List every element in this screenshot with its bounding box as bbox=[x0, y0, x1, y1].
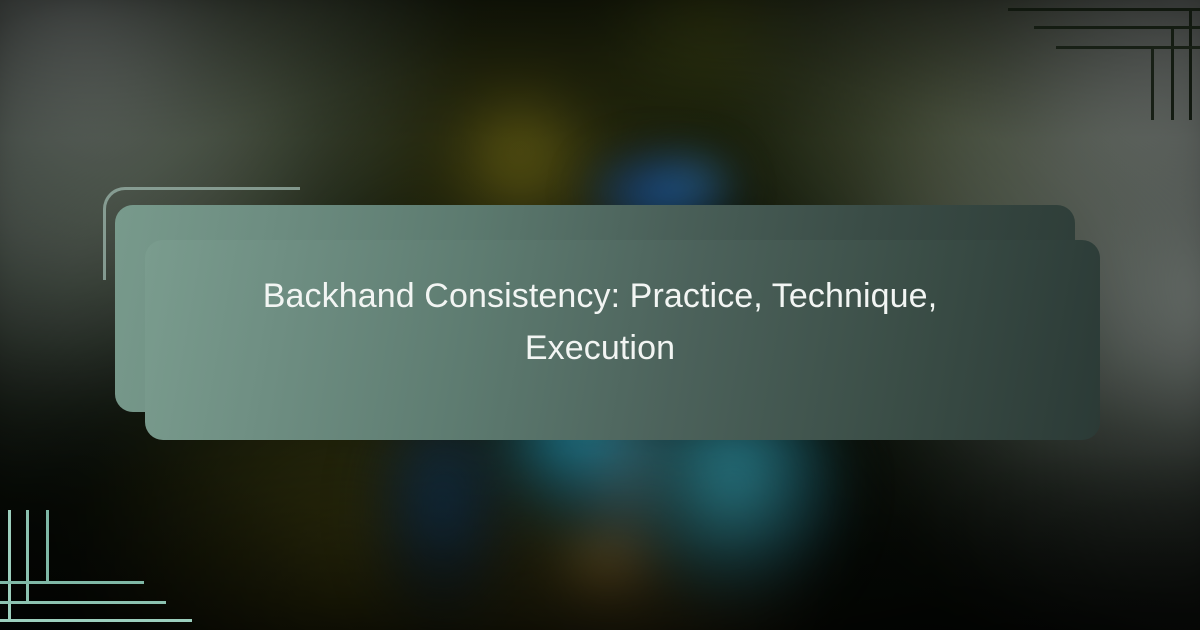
page-title: Backhand Consistency: Practice, Techniqu… bbox=[220, 271, 980, 374]
title-card: Backhand Consistency: Practice, Techniqu… bbox=[145, 205, 1055, 440]
social-card-canvas: Backhand Consistency: Practice, Techniqu… bbox=[0, 0, 1200, 630]
